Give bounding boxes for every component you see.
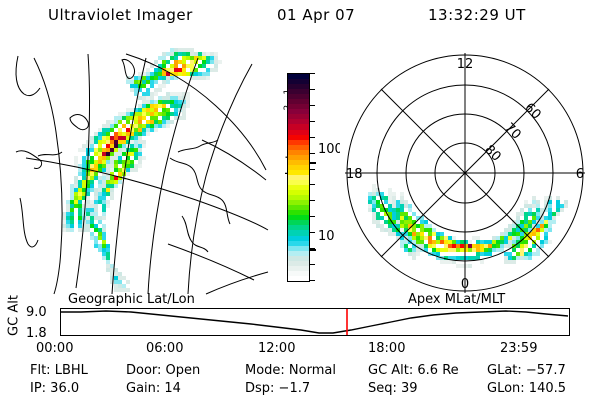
aurora-pixel [214, 64, 218, 68]
aurora-pixel [114, 116, 118, 120]
status-field: IP: 36.0 [30, 382, 79, 395]
aurora-pixel [146, 132, 150, 136]
aurora-pixel [504, 240, 508, 244]
aurora-pixel [150, 108, 154, 112]
aurora-pixel [432, 232, 436, 236]
aurora-pixel [400, 216, 404, 220]
aurora-pixel [158, 120, 162, 124]
aurora-pixel [110, 196, 114, 200]
aurora-pixel [90, 136, 94, 140]
aurora-pixel [90, 212, 94, 216]
aurora-pixel [90, 176, 94, 180]
aurora-pixel [376, 224, 380, 228]
aurora-pixel [134, 140, 138, 144]
aurora-pixel [138, 156, 142, 160]
aurora-pixel [102, 208, 106, 212]
aurora-pixel [444, 236, 448, 240]
aurora-pixel [512, 228, 516, 232]
aurora-pixel [150, 112, 154, 116]
aurora-pixel [396, 216, 400, 220]
aurora-pixel [158, 96, 162, 100]
aurora-pixel [520, 208, 524, 212]
aurora-pixel [516, 256, 520, 260]
aurora-pixel [150, 76, 154, 80]
aurora-pixel [468, 244, 472, 248]
aurora-pixel [404, 200, 408, 204]
aurora-pixel [70, 228, 74, 232]
aurora-pixel [86, 216, 90, 220]
aurora-pixel [512, 240, 516, 244]
aurora-pixel [492, 240, 496, 244]
aurora-pixel [198, 72, 202, 76]
aurora-pixel [126, 116, 130, 120]
aurora-pixel [98, 216, 102, 220]
aurora-pixel [560, 208, 564, 212]
aurora-pixel [548, 216, 552, 220]
aurora-pixel [102, 204, 106, 208]
aurora-pixel [174, 104, 178, 108]
aurora-pixel [114, 280, 118, 284]
aurora-pixel [150, 72, 154, 76]
aurora-pixel [110, 124, 114, 128]
aurora-pixel [388, 196, 392, 200]
aurora-pixel [508, 236, 512, 240]
aurora-pixel [118, 140, 122, 144]
aurora-pixel [396, 220, 400, 224]
trace-title-apex: Apex MLat/MLT [408, 292, 505, 307]
aurora-pixel [174, 64, 178, 68]
aurora-pixel [82, 164, 86, 168]
aurora-pixel [78, 196, 82, 200]
aurora-pixel [158, 84, 162, 88]
aurora-pixel [118, 116, 122, 120]
geographic-image-canvas [10, 48, 272, 296]
aurora-pixel [134, 76, 138, 80]
aurora-pixel [392, 228, 396, 232]
aurora-pixel [146, 92, 150, 96]
aurora-pixel [154, 124, 158, 128]
geographic-image-panel[interactable] [10, 48, 272, 296]
aurora-pixel [114, 268, 118, 272]
altitude-trace-canvas [61, 309, 569, 335]
aurora-pixel [98, 192, 102, 196]
aurora-pixel [182, 68, 186, 72]
aurora-pixel [416, 236, 420, 240]
aurora-pixel [122, 132, 126, 136]
aurora-pixel [524, 216, 528, 220]
aurora-pixel [452, 256, 456, 260]
aurora-pixel [138, 104, 142, 108]
aurora-pixel [138, 132, 142, 136]
aurora-pixel [118, 132, 122, 136]
aurora-pixel [134, 148, 138, 152]
aurora-pixel [544, 220, 548, 224]
aurora-pixel [118, 120, 122, 124]
aurora-pixel [66, 200, 70, 204]
aurora-pixel [114, 144, 118, 148]
aurora-pixel [98, 248, 102, 252]
aurora-pixel [194, 72, 198, 76]
aurora-pixel [82, 176, 86, 180]
aurora-pixel [98, 236, 102, 240]
aurora-pixel [376, 212, 380, 216]
aurora-pixel [126, 120, 130, 124]
aurora-pixel [126, 80, 130, 84]
colorbar-tick-minor [309, 169, 315, 170]
aurora-pixel [74, 180, 78, 184]
aurora-pixel [206, 60, 210, 64]
aurora-pixel [432, 228, 436, 232]
aurora-pixel [484, 244, 488, 248]
aurora-pixel [368, 196, 372, 200]
aurora-pixel [106, 200, 110, 204]
aurora-pixel [548, 220, 552, 224]
aurora-pixel [62, 228, 66, 232]
aurora-pixel [166, 60, 170, 64]
aurora-pixel [532, 216, 536, 220]
aurora-pixel [86, 192, 90, 196]
aurora-pixel [198, 52, 202, 56]
aurora-pixel [400, 212, 404, 216]
aurora-pixel [94, 240, 98, 244]
colorbar-tick-minor [309, 280, 315, 281]
aurora-pixel [198, 64, 202, 68]
aurora-pixel [106, 128, 110, 132]
aurora-pixel [528, 256, 532, 260]
aurora-pixel [78, 168, 82, 172]
aurora-pixel [380, 208, 384, 212]
aurora-pixel [82, 160, 86, 164]
aurora-pixel [412, 252, 416, 256]
aurora-pixel [182, 60, 186, 64]
aurora-pixel [174, 48, 178, 52]
aurora-pixel [154, 108, 158, 112]
aurora-pixel [420, 220, 424, 224]
aurora-pixel [210, 60, 214, 64]
aurora-pixel [404, 240, 408, 244]
aurora-pixel [170, 104, 174, 108]
aurora-pixel [520, 232, 524, 236]
aurora-pixel [416, 232, 420, 236]
aurora-pixel [114, 124, 118, 128]
aurora-pixel [70, 212, 74, 216]
aurora-pixel [524, 212, 528, 216]
aurora-pixel [194, 52, 198, 56]
colorbar-band [288, 276, 309, 281]
aurora-pixel [106, 152, 110, 156]
aurora-pixel [162, 108, 166, 112]
aurora-pixel [94, 160, 98, 164]
aurora-pixel [368, 200, 372, 204]
aurora-pixel [448, 236, 452, 240]
aurora-pixel [154, 76, 158, 80]
aurora-pixel [78, 228, 82, 232]
aurora-pixel [94, 224, 98, 228]
colorbar-tick-minor [309, 232, 315, 233]
aurora-pixel [170, 56, 174, 60]
aurora-pixel [520, 224, 524, 228]
aurora-pixel [94, 212, 98, 216]
aurora-pixel [436, 248, 440, 252]
mlt-dial-panel[interactable]: 12 6 0 18 60 70 80 [340, 48, 590, 298]
aurora-pixel [444, 244, 448, 248]
aurora-pixel [396, 212, 400, 216]
aurora-pixel [126, 108, 130, 112]
aurora-pixel [524, 224, 528, 228]
aurora-pixel [540, 208, 544, 212]
aurora-pixel [174, 56, 178, 60]
aurora-pixel [460, 264, 464, 268]
aurora-pixel [516, 216, 520, 220]
aurora-pixel [440, 232, 444, 236]
aurora-pixel [134, 116, 138, 120]
aurora-pixel [166, 112, 170, 116]
aurora-pixel [70, 188, 74, 192]
colorbar-gradient[interactable] [287, 73, 310, 282]
aurora-pixel [504, 236, 508, 240]
aurora-pixel [102, 216, 106, 220]
aurora-pixel [516, 252, 520, 256]
aurora-pixel [544, 228, 548, 232]
aurora-pixel [392, 208, 396, 212]
aurora-pixel [380, 224, 384, 228]
aurora-pixel [94, 152, 98, 156]
aurora-pixel [94, 228, 98, 232]
aurora-pixel [82, 148, 86, 152]
aurora-pixel [82, 188, 86, 192]
aurora-pixel [524, 252, 528, 256]
aurora-pixel [70, 208, 74, 212]
aurora-pixel [520, 244, 524, 248]
aurora-pixel [90, 208, 94, 212]
aurora-pixel [536, 208, 540, 212]
aurora-pixel [102, 180, 106, 184]
aurora-pixel [162, 76, 166, 80]
aurora-pixel [412, 236, 416, 240]
aurora-pixel [130, 144, 134, 148]
aurora-pixel [62, 220, 66, 224]
aurora-pixel [178, 100, 182, 104]
aurora-pixel [110, 168, 114, 172]
aurora-pixel [150, 116, 154, 120]
aurora-pixel [202, 76, 206, 80]
aurora-pixel [110, 156, 114, 160]
aurora-pixel [448, 240, 452, 244]
aurora-pixel [118, 272, 122, 276]
aurora-pixel [114, 132, 118, 136]
aurora-pixel [182, 64, 186, 68]
aurora-pixel [396, 224, 400, 228]
aurora-pixel [186, 48, 190, 52]
aurora-pixel [174, 60, 178, 64]
aurora-pixel [404, 204, 408, 208]
aurora-pixel [456, 248, 460, 252]
aurora-pixel [78, 148, 82, 152]
aurora-pixel [106, 168, 110, 172]
aurora-pixel [126, 112, 130, 116]
aurora-pixel [94, 208, 98, 212]
aurora-pixel [420, 224, 424, 228]
aurora-pixel [138, 124, 142, 128]
aurora-pixel [150, 80, 154, 84]
aurora-pixel [480, 240, 484, 244]
aurora-pixel [82, 184, 86, 188]
aurora-pixel [102, 152, 106, 156]
colorbar-label-10: 10 [318, 230, 335, 243]
aurora-pixel [508, 228, 512, 232]
trace-xtick-label: 23:59 [500, 342, 537, 355]
aurora-pixel [70, 184, 74, 188]
aurora-pixel [512, 236, 516, 240]
trace-title-geographic: Geographic Lat/Lon [68, 292, 195, 307]
aurora-pixel [532, 252, 536, 256]
aurora-pixel [150, 124, 154, 128]
aurora-pixel [134, 80, 138, 84]
aurora-pixel [400, 224, 404, 228]
aurora-pixel [376, 200, 380, 204]
aurora-pixel [404, 212, 408, 216]
aurora-pixel [400, 200, 404, 204]
aurora-pixel [202, 60, 206, 64]
aurora-pixel [106, 132, 110, 136]
aurora-pixel [400, 208, 404, 212]
aurora-pixel [78, 172, 82, 176]
aurora-pixel [528, 224, 532, 228]
aurora-pixel [106, 144, 110, 148]
aurora-pixel [488, 248, 492, 252]
aurora-pixel [134, 156, 138, 160]
aurora-pixel [544, 216, 548, 220]
aurora-pixel [154, 60, 158, 64]
aurora-pixel [130, 108, 134, 112]
aurora-pixel [134, 132, 138, 136]
aurora-pixel [504, 244, 508, 248]
aurora-pixel [408, 232, 412, 236]
aurora-pixel [106, 120, 110, 124]
aurora-pixel [444, 248, 448, 252]
aurora-pixel [78, 188, 82, 192]
aurora-pixel [166, 76, 170, 80]
aurora-pixel [102, 196, 106, 200]
aurora-pixel [98, 244, 102, 248]
aurora-pixel [102, 232, 106, 236]
aurora-pixel [392, 196, 396, 200]
status-field: Door: Open [126, 364, 200, 377]
aurora-pixel [536, 204, 540, 208]
aurora-pixel [150, 84, 154, 88]
aurora-pixel [110, 184, 114, 188]
aurora-pixel [118, 128, 122, 132]
aurora-pixel [412, 212, 416, 216]
aurora-pixel [186, 64, 190, 68]
aurora-pixel [118, 168, 122, 172]
aurora-pixel [206, 72, 210, 76]
aurora-pixel [376, 216, 380, 220]
aurora-pixel [496, 236, 500, 240]
aurora-pixel [396, 200, 400, 204]
aurora-pixel [496, 244, 500, 248]
aurora-pixel [536, 252, 540, 256]
aurora-pixel [408, 208, 412, 212]
aurora-pixel [142, 124, 146, 128]
aurora-pixel [98, 232, 102, 236]
aurora-pixel [98, 196, 102, 200]
aurora-pixel [500, 244, 504, 248]
aurora-pixel [166, 80, 170, 84]
status-field: Seq: 39 [368, 382, 418, 395]
aurora-pixel [162, 120, 166, 124]
aurora-pixel [476, 240, 480, 244]
aurora-pixel [98, 200, 102, 204]
aurora-pixel [106, 256, 110, 260]
aurora-pixel [368, 204, 372, 208]
aurora-pixel [138, 128, 142, 132]
aurora-pixel [166, 96, 170, 100]
aurora-pixel [500, 236, 504, 240]
aurora-pixel [138, 164, 142, 168]
aurora-pixel [428, 236, 432, 240]
aurora-pixel [106, 140, 110, 144]
aurora-pixel [146, 88, 150, 92]
aurora-pixel [102, 140, 106, 144]
aurora-pixel [118, 136, 122, 140]
aurora-pixel [130, 168, 134, 172]
aurora-pixel [146, 76, 150, 80]
aurora-pixel [86, 200, 90, 204]
aurora-pixel [90, 232, 94, 236]
status-field: GC Alt: 6.6 Re [368, 364, 459, 377]
aurora-pixel [154, 88, 158, 92]
aurora-pixel [166, 124, 170, 128]
aurora-pixel [146, 104, 150, 108]
trace-y-axis-label: GC Alt [7, 286, 22, 346]
aurora-pixel [182, 112, 186, 116]
aurora-pixel [468, 240, 472, 244]
aurora-pixel [170, 92, 174, 96]
aurora-pixel [404, 224, 408, 228]
aurora-pixel [102, 236, 106, 240]
aurora-pixel [130, 84, 134, 88]
altitude-trace-plot[interactable] [60, 308, 570, 336]
aurora-pixel [412, 232, 416, 236]
colorbar-tick-minor [309, 264, 315, 265]
aurora-pixel [388, 200, 392, 204]
aurora-pixel [154, 100, 158, 104]
aurora-pixel [122, 116, 126, 120]
aurora-pixel [90, 236, 94, 240]
aurora-pixel [440, 240, 444, 244]
aurora-pixel [102, 156, 106, 160]
aurora-pixel [142, 156, 146, 160]
aurora-pixel [62, 224, 66, 228]
aurora-pixel [162, 64, 166, 68]
aurora-pixel [142, 132, 146, 136]
aurora-pixel [118, 152, 122, 156]
aurora-pixel [174, 112, 178, 116]
aurora-pixel [210, 52, 214, 56]
aurora-pixel [106, 136, 110, 140]
aurora-pixel [504, 252, 508, 256]
aurora-pixel [400, 220, 404, 224]
aurora-pixel [158, 124, 162, 128]
aurora-pixel [114, 148, 118, 152]
aurora-pixel [400, 192, 404, 196]
aurora-pixel [500, 240, 504, 244]
aurora-pixel [86, 220, 90, 224]
aurora-pixel [78, 224, 82, 228]
aurora-pixel [162, 84, 166, 88]
aurora-pixel [118, 148, 122, 152]
